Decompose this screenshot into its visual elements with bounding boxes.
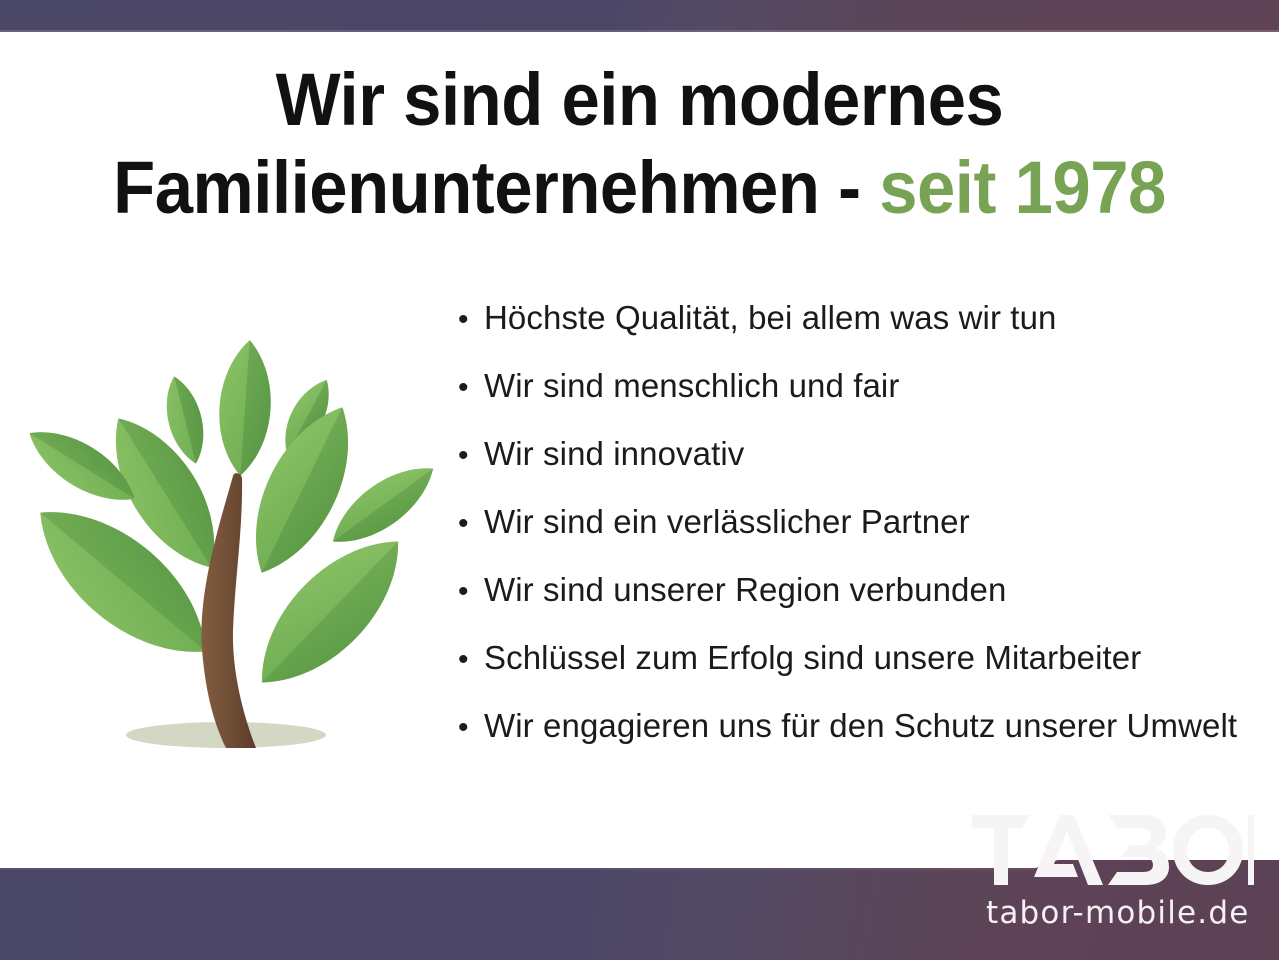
bullet-dot-icon: • (458, 575, 484, 609)
list-item-label: Wir engagieren uns für den Schutz unsere… (484, 708, 1237, 744)
page-title: Wir sind ein modernes Familienunternehme… (45, 56, 1234, 232)
list-item: • Wir sind menschlich und fair (458, 368, 1268, 436)
brand-wordmark (972, 815, 1254, 885)
tree-logo-icon (30, 330, 440, 760)
list-item: • Höchste Qualität, bei allem was wir tu… (458, 300, 1268, 368)
list-item: • Schlüssel zum Erfolg sind unsere Mitar… (458, 640, 1268, 708)
bullet-dot-icon: • (458, 439, 484, 473)
bullet-dot-icon: • (458, 643, 484, 677)
bullet-dot-icon: • (458, 711, 484, 745)
list-item: • Wir sind ein verlässlicher Partner (458, 504, 1268, 572)
headline-accent-since-1978: seit 1978 (879, 146, 1166, 229)
headline-line-2-main: Familienunternehmen - (113, 146, 879, 229)
headline-line-2: Familienunternehmen - seit 1978 (45, 144, 1234, 232)
list-item-label: Wir sind menschlich und fair (484, 368, 899, 404)
bullet-dot-icon: • (458, 303, 484, 337)
list-item-label: Wir sind unserer Region verbunden (484, 572, 1006, 608)
slide-canvas: Wir sind ein modernes Familienunternehme… (0, 0, 1279, 960)
value-bullet-list: • Höchste Qualität, bei allem was wir tu… (458, 300, 1268, 776)
top-accent-bar-highlight (0, 30, 1279, 32)
top-accent-bar (0, 0, 1279, 32)
list-item: • Wir sind unserer Region verbunden (458, 572, 1268, 640)
list-item-label: Höchste Qualität, bei allem was wir tun (484, 300, 1056, 336)
bullet-dot-icon: • (458, 507, 484, 541)
list-item-label: Wir sind innovativ (484, 436, 744, 472)
list-item: • Wir engagieren uns für den Schutz unse… (458, 708, 1268, 776)
headline-line-1: Wir sind ein modernes (45, 56, 1234, 144)
list-item-label: Schlüssel zum Erfolg sind unsere Mitarbe… (484, 640, 1141, 676)
list-item-label: Wir sind ein verlässlicher Partner (484, 504, 970, 540)
bullet-dot-icon: • (458, 371, 484, 405)
list-item: • Wir sind innovativ (458, 436, 1268, 504)
brand-url: tabor-mobile.de (986, 896, 1250, 930)
